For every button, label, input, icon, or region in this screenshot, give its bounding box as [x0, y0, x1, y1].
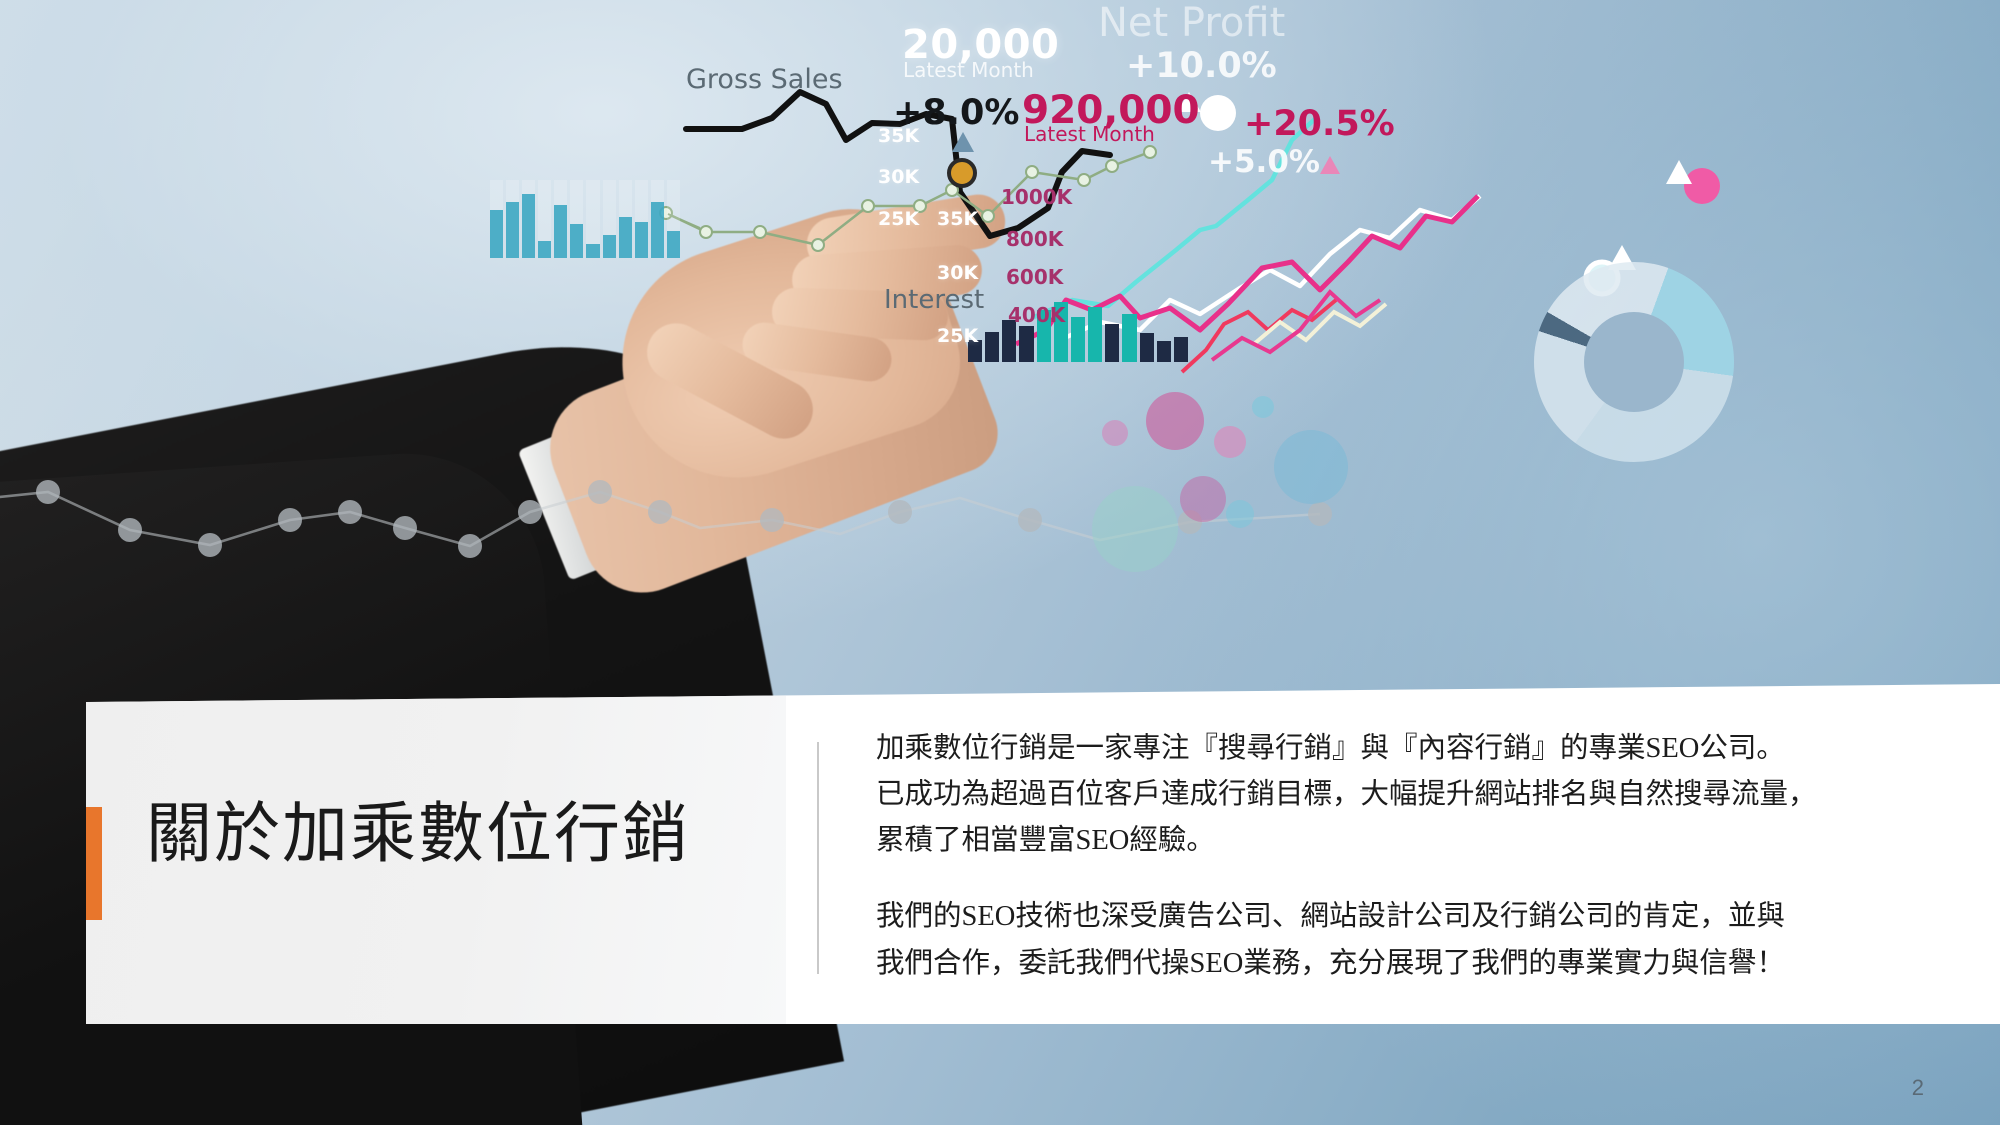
body-line-4: 我們的SEO技術也深受廣告公司、網站設計公司及行銷公司的肯定，並與	[876, 894, 1956, 940]
body-text: 加乘數位行銷是一家專注『搜尋行銷』與『內容行銷』的專業SEO公司。 已成功為超過…	[876, 726, 1956, 987]
page-number: 2	[1912, 1075, 1924, 1101]
slide: Gross Sales Interest Net Profit 20,000 L…	[0, 0, 2000, 1125]
body-line-2: 已成功為超過百位客戶達成行銷目標，大幅提升網站排名與自然搜尋流量，	[876, 772, 1956, 818]
page-title: 關於加乘數位行銷	[146, 802, 690, 868]
body-line-3: 累積了相當豐富SEO經驗。	[876, 818, 1956, 864]
vertical-divider	[817, 742, 819, 974]
body-line-5: 我們合作，委託我們代操SEO業務，充分展現了我們的專業實力與信譽！	[876, 941, 1956, 987]
body-line-1: 加乘數位行銷是一家專注『搜尋行銷』與『內容行銷』的專業SEO公司。	[876, 726, 1956, 772]
content-panel: 關於加乘數位行銷 加乘數位行銷是一家專注『搜尋行銷』與『內容行銷』的專業SEO公…	[86, 684, 2000, 1024]
